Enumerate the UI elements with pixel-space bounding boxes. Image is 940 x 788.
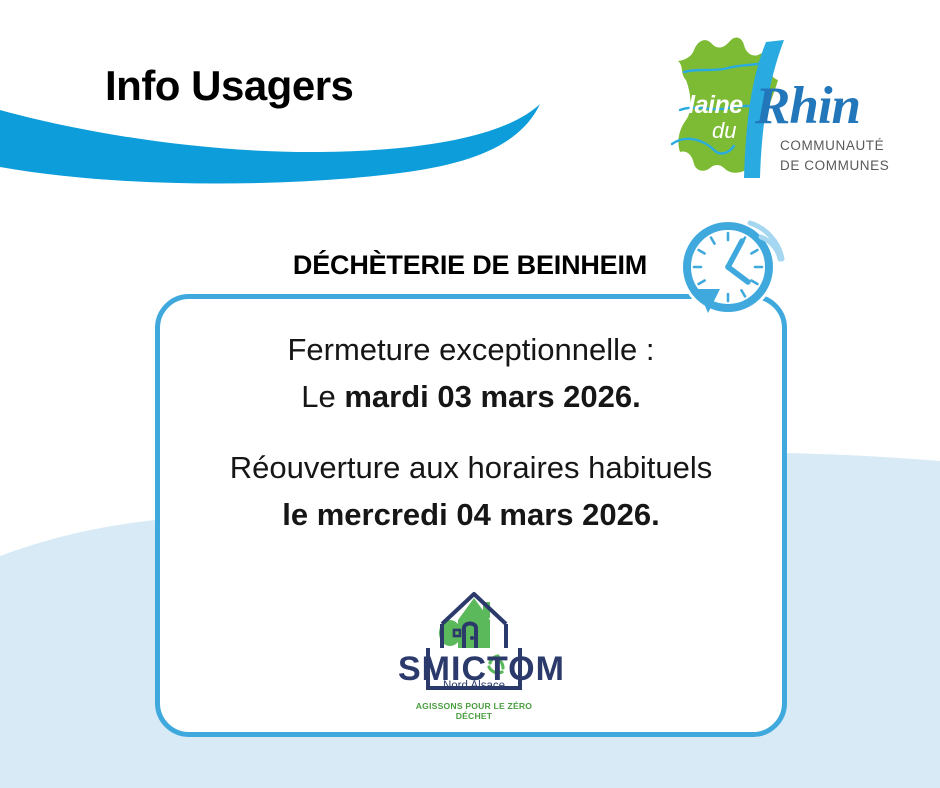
notice-line-1: Fermeture exceptionnelle : (160, 326, 782, 373)
notice-line-2-date: mardi 03 mars 2026. (344, 379, 640, 414)
plaine-du-rhin-logo: Plaine du Rhin COMMUNAUTÉ DE COMMUNES (650, 28, 890, 188)
logo-word-rhin: Rhin (755, 76, 860, 136)
notice-line-2-prefix: Le (301, 379, 344, 414)
notice-line-4-date: le mercredi 04 mars 2026. (282, 497, 659, 532)
logo-subtitle-line2: DE COMMUNES (780, 158, 889, 173)
logo-word-du: du (712, 118, 736, 144)
alarm-clock-icon (668, 213, 792, 337)
poster-canvas: Info Usagers Plaine du Rhin COMMUNAUTÉ D… (0, 0, 940, 788)
logo-subtitle-line1: COMMUNAUTÉ (780, 138, 884, 153)
notice-line-2: Le mardi 03 mars 2026. (160, 373, 782, 420)
smictom-subtitle: Nord Alsace (398, 680, 550, 692)
paragraph-spacer (160, 420, 782, 444)
smictom-tagline: AGISSONS POUR LE ZÉRO DÉCHET (398, 701, 550, 721)
page-title: Info Usagers (105, 62, 353, 110)
notice-line-4: le mercredi 04 mars 2026. (160, 491, 782, 538)
notice-heading: DÉCHÈTERIE DE BEINHEIM (0, 250, 940, 281)
notice-line-3: Réouverture aux horaires habituels (160, 444, 782, 491)
header-blue-swoosh (0, 104, 540, 184)
logo-word-plaine: Plaine (672, 91, 743, 120)
smictom-nord-alsace-logo: SMICTOM Nord Alsace AGISSONS POUR LE ZÉR… (398, 588, 550, 718)
notice-body: Fermeture exceptionnelle : Le mardi 03 m… (160, 326, 782, 538)
